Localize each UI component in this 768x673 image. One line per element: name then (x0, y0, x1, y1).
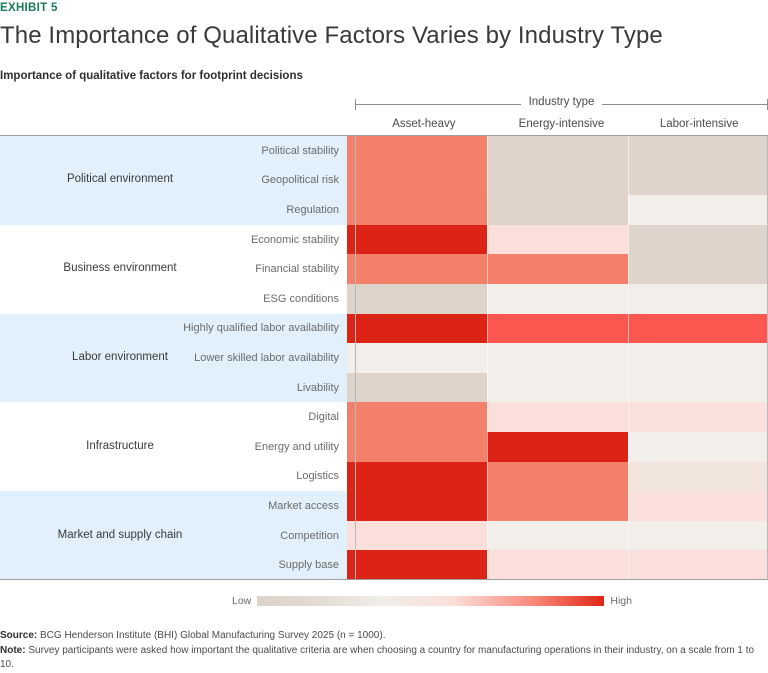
heatmap-grid: Political environmentPolitical stability… (0, 136, 768, 580)
heatmap-row: Economic stability (0, 225, 768, 255)
heatmap-cell (347, 402, 487, 432)
heatmap-cell (628, 314, 768, 344)
column-header-labor-intensive: Labor-intensive (630, 118, 768, 134)
heatmap-cell (487, 373, 627, 403)
chart-subtitle: Importance of qualitative factors for fo… (0, 70, 303, 82)
row-label: Economic stability (0, 234, 347, 246)
heatmap-cell (487, 432, 627, 462)
heatmap-row-cells (347, 550, 768, 580)
note-line: Note: Survey participants were asked how… (0, 644, 768, 673)
heatmap-row-cells (347, 373, 768, 403)
heatmap-row: Lower skilled labor availability (0, 343, 768, 373)
heatmap-cell (628, 136, 768, 166)
heatmap-row-cells (347, 343, 768, 373)
heatmap-cell (628, 166, 768, 196)
legend-color-ramp (257, 596, 604, 606)
source-line: Source: BCG Henderson Institute (BHI) Gl… (0, 629, 768, 644)
plot-bottom-rule (0, 579, 768, 580)
heatmap-cell (487, 254, 627, 284)
page-title: The Importance of Qualitative Factors Va… (0, 22, 663, 50)
heatmap-row: Livability (0, 373, 768, 403)
plot-left-edge (355, 136, 356, 580)
heatmap-cell (347, 166, 487, 196)
heatmap-row-cells (347, 402, 768, 432)
heatmap-cell (347, 550, 487, 580)
column-group-tick-left (355, 99, 356, 110)
heatmap-row: Digital (0, 402, 768, 432)
note-text: Survey participants were asked how impor… (0, 645, 754, 671)
row-label: ESG conditions (0, 293, 347, 305)
heatmap-row: Geopolitical risk (0, 166, 768, 196)
row-label: Political stability (0, 145, 347, 157)
row-label: Digital (0, 411, 347, 423)
heatmap-row: Market access (0, 491, 768, 521)
footnotes: Source: BCG Henderson Institute (BHI) Gl… (0, 629, 768, 673)
heatmap-cell (628, 402, 768, 432)
row-label: Supply base (0, 559, 347, 571)
heatmap-cell (347, 521, 487, 551)
heatmap-cell (628, 225, 768, 255)
heatmap-cell (487, 314, 627, 344)
row-label: Highly qualified labor availability (0, 322, 347, 334)
heatmap-row-cells (347, 254, 768, 284)
heatmap-row-cells (347, 521, 768, 551)
row-label: Logistics (0, 470, 347, 482)
column-group-header: Industry type (355, 96, 768, 112)
source-label: Source: (0, 630, 37, 641)
source-text: BCG Henderson Institute (BHI) Global Man… (40, 630, 385, 641)
row-label: Livability (0, 382, 347, 394)
heatmap-cell (487, 462, 627, 492)
column-header-asset-heavy: Asset-heavy (355, 118, 493, 134)
row-label: Lower skilled labor availability (0, 352, 347, 364)
heatmap-row-cells (347, 462, 768, 492)
heatmap-cell (628, 284, 768, 314)
legend-low-label: Low (232, 595, 251, 607)
heatmap-cell (628, 550, 768, 580)
heatmap-row: Highly qualified labor availability (0, 314, 768, 344)
heatmap-cell (347, 491, 487, 521)
heatmap-row-cells (347, 195, 768, 225)
heatmap-row: Logistics (0, 462, 768, 492)
heatmap-cell (628, 343, 768, 373)
heatmap-row-cells (347, 432, 768, 462)
column-group-label: Industry type (521, 96, 603, 108)
heatmap-cell (628, 373, 768, 403)
heatmap-row: ESG conditions (0, 284, 768, 314)
column-header-energy-intensive: Energy-intensive (493, 118, 631, 134)
heatmap-cell (487, 550, 627, 580)
heatmap-cell (628, 491, 768, 521)
heatmap-cell (347, 343, 487, 373)
row-label: Energy and utility (0, 441, 347, 453)
heatmap-row-cells (347, 491, 768, 521)
heatmap-row-cells (347, 166, 768, 196)
heatmap-row-cells (347, 225, 768, 255)
legend-high-label: High (610, 595, 632, 607)
row-label: Financial stability (0, 263, 347, 275)
row-label: Competition (0, 530, 347, 542)
heatmap-cell (487, 521, 627, 551)
heatmap-cell (347, 462, 487, 492)
heatmap-row: Supply base (0, 550, 768, 580)
heatmap-cell (347, 136, 487, 166)
row-label: Geopolitical risk (0, 174, 347, 186)
heatmap-row: Regulation (0, 195, 768, 225)
heatmap-cell (347, 254, 487, 284)
heatmap-cell (628, 462, 768, 492)
heatmap-cell (487, 402, 627, 432)
heatmap-cell (347, 373, 487, 403)
column-headers: Asset-heavyEnergy-intensiveLabor-intensi… (355, 118, 768, 134)
heatmap-cell (487, 284, 627, 314)
color-legend: Low High (232, 594, 632, 608)
heatmap-cell (487, 225, 627, 255)
heatmap-row: Competition (0, 521, 768, 551)
heatmap-cell (347, 432, 487, 462)
heatmap-cell (487, 343, 627, 373)
heatmap-row: Financial stability (0, 254, 768, 284)
heatmap-cell (487, 195, 627, 225)
heatmap-cell (347, 225, 487, 255)
heatmap-cell (487, 491, 627, 521)
heatmap-cell (487, 166, 627, 196)
heatmap-cell (628, 432, 768, 462)
note-label: Note: (0, 645, 26, 656)
heatmap-cell (628, 521, 768, 551)
heatmap-row-cells (347, 314, 768, 344)
heatmap-cell (487, 136, 627, 166)
exhibit-label: EXHIBIT 5 (0, 2, 58, 14)
row-label: Market access (0, 500, 347, 512)
heatmap-cell (628, 254, 768, 284)
heatmap-row-cells (347, 284, 768, 314)
heatmap-cell (347, 314, 487, 344)
heatmap-cell (628, 195, 768, 225)
heatmap-row: Political stability (0, 136, 768, 166)
heatmap-row-cells (347, 136, 768, 166)
row-label: Regulation (0, 204, 347, 216)
heatmap-row: Energy and utility (0, 432, 768, 462)
heatmap-cell (347, 195, 487, 225)
heatmap-cell (347, 284, 487, 314)
